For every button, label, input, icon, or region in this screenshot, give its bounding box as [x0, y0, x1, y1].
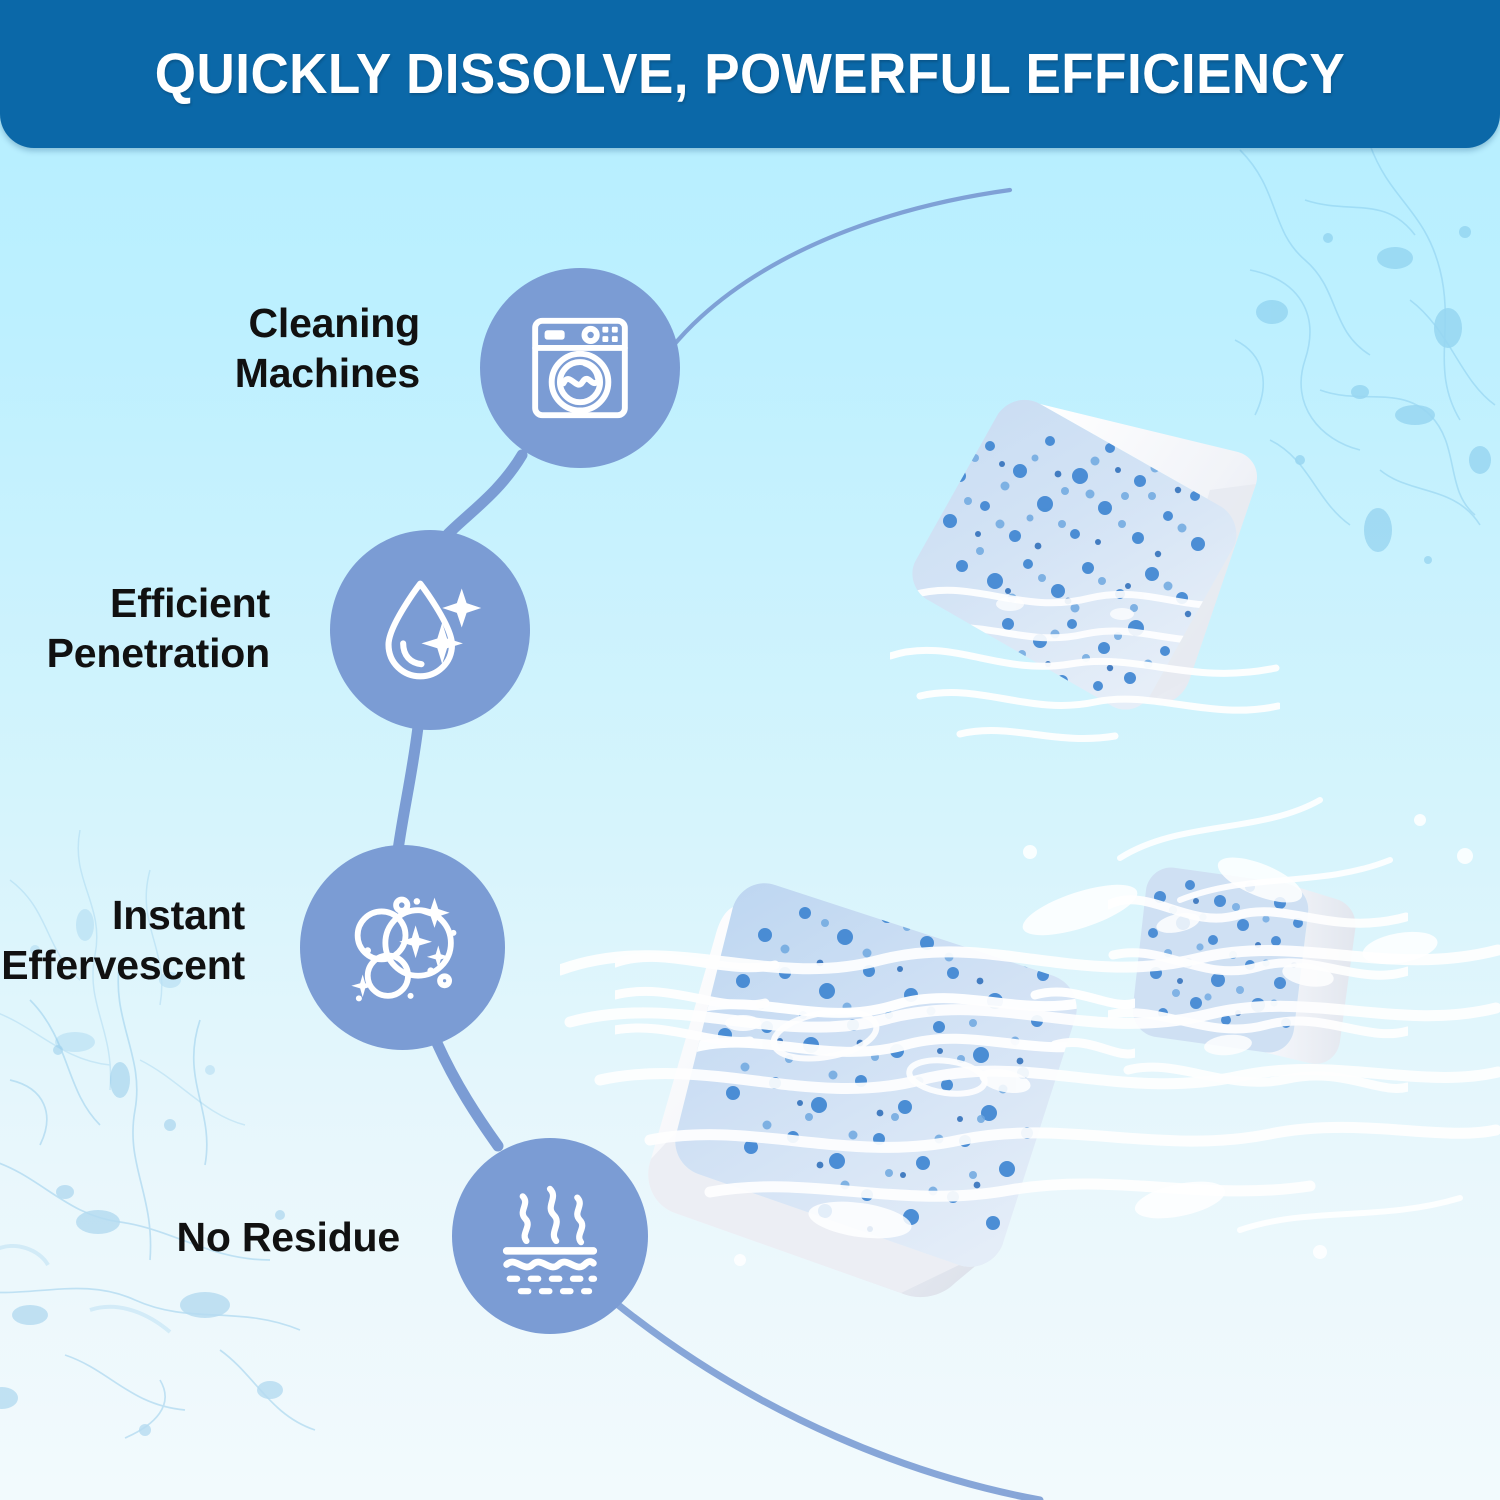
feature-icon-circle-cleaning-machines[interactable]	[480, 268, 680, 468]
feature-icon-circle-efficient-penetration[interactable]	[330, 530, 530, 730]
water-splash-texture-bottom-left	[0, 960, 330, 1440]
connector-top-arc	[648, 190, 1010, 382]
product-tablet-right	[1108, 845, 1408, 1135]
product-tablet-top	[890, 386, 1280, 766]
feature-label-efficient-penetration: Efficient Penetration	[0, 578, 270, 678]
feature-label-no-residue: No Residue	[100, 1212, 400, 1262]
steam-layers-icon	[488, 1174, 612, 1298]
bubbles-sparkle-icon	[340, 885, 466, 1011]
water-droplet-sparkle-icon	[369, 569, 491, 691]
connector-2-3	[398, 727, 418, 850]
connector-bottom-arc	[612, 1300, 1040, 1500]
feature-icon-circle-instant-effervescent[interactable]	[300, 845, 505, 1050]
header-banner: QUICKLY DISSOLVE, POWERFUL EFFICIENCY	[0, 0, 1500, 148]
product-infographic: QUICKLY DISSOLVE, POWERFUL EFFICIENCY Cl…	[0, 0, 1500, 1500]
connector-1-2	[448, 455, 522, 534]
feature-label-cleaning-machines: Cleaning Machines	[120, 298, 420, 398]
feature-label-instant-effervescent: Instant Effervescent	[0, 890, 245, 990]
product-tablet-bottom	[615, 845, 1135, 1315]
page-title: QUICKLY DISSOLVE, POWERFUL EFFICIENCY	[155, 41, 1345, 107]
connector-3-4	[437, 1043, 498, 1146]
washing-machine-icon	[521, 309, 639, 427]
